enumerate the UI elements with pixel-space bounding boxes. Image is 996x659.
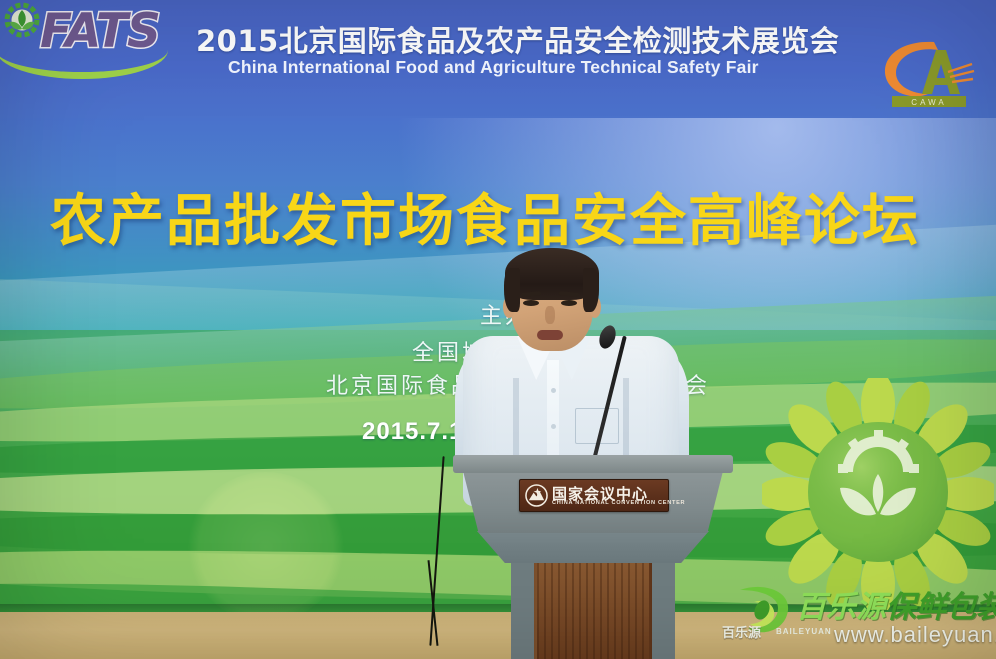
watermark-brand: 百乐源保鲜包装	[796, 582, 996, 626]
speaker-eye-right	[561, 300, 577, 306]
watermark-badge: 百乐源 BAILEYUAN	[718, 622, 826, 642]
speaker-mouth	[537, 330, 563, 340]
cawa-wordmark: CAWA	[911, 98, 946, 107]
fats-logo: FATS	[0, 0, 176, 72]
plaque-text-en: CHINA NATIONAL CONVENTION CENTER	[552, 500, 685, 506]
watermark-brand-cn: 百乐源	[796, 590, 886, 625]
sunflower-graphic	[762, 378, 994, 610]
event-photo: FATS CAWA 2015北京国际食品及农产品安全检测技术展览会 China …	[0, 0, 996, 659]
watermark-badge-en: BAILEYUAN	[776, 627, 832, 636]
watermark-badge-cn: 百乐源	[722, 622, 761, 641]
podium-skirt	[477, 531, 709, 563]
speaker-hair-right	[583, 268, 599, 312]
forum-title: 农产品批发市场食品安全高峰论坛	[50, 176, 950, 257]
podium-wood-panel	[537, 561, 649, 659]
watermark-brand-suffix: 保鲜包装	[886, 590, 996, 625]
podium-top-surface	[453, 455, 733, 473]
shirt-button	[551, 424, 556, 429]
speaker-hair-left	[504, 268, 520, 312]
cawa-logo: CAWA	[876, 36, 980, 112]
watermark: 百乐源保鲜包装 百乐源 BAILEYUAN www.baileyuan.cn	[716, 578, 996, 656]
watermark-url: www.baileyuan.cn	[834, 622, 996, 648]
banner-title-en: China International Food and Agriculture…	[228, 57, 828, 78]
speaker-eye-left	[523, 300, 539, 306]
shirt-button	[551, 388, 556, 393]
podium: 国家会议中心 CHINA NATIONAL CONVENTION CENTER	[453, 455, 733, 659]
podium-plaque: 国家会议中心 CHINA NATIONAL CONVENTION CENTER	[519, 479, 669, 512]
cncc-mountain-icon	[525, 484, 548, 507]
banner-title-cn: 2015北京国际食品及农产品安全检测技术展览会	[196, 18, 856, 60]
speaker-nose	[545, 306, 555, 324]
gear-leaf-icon	[0, 2, 44, 46]
